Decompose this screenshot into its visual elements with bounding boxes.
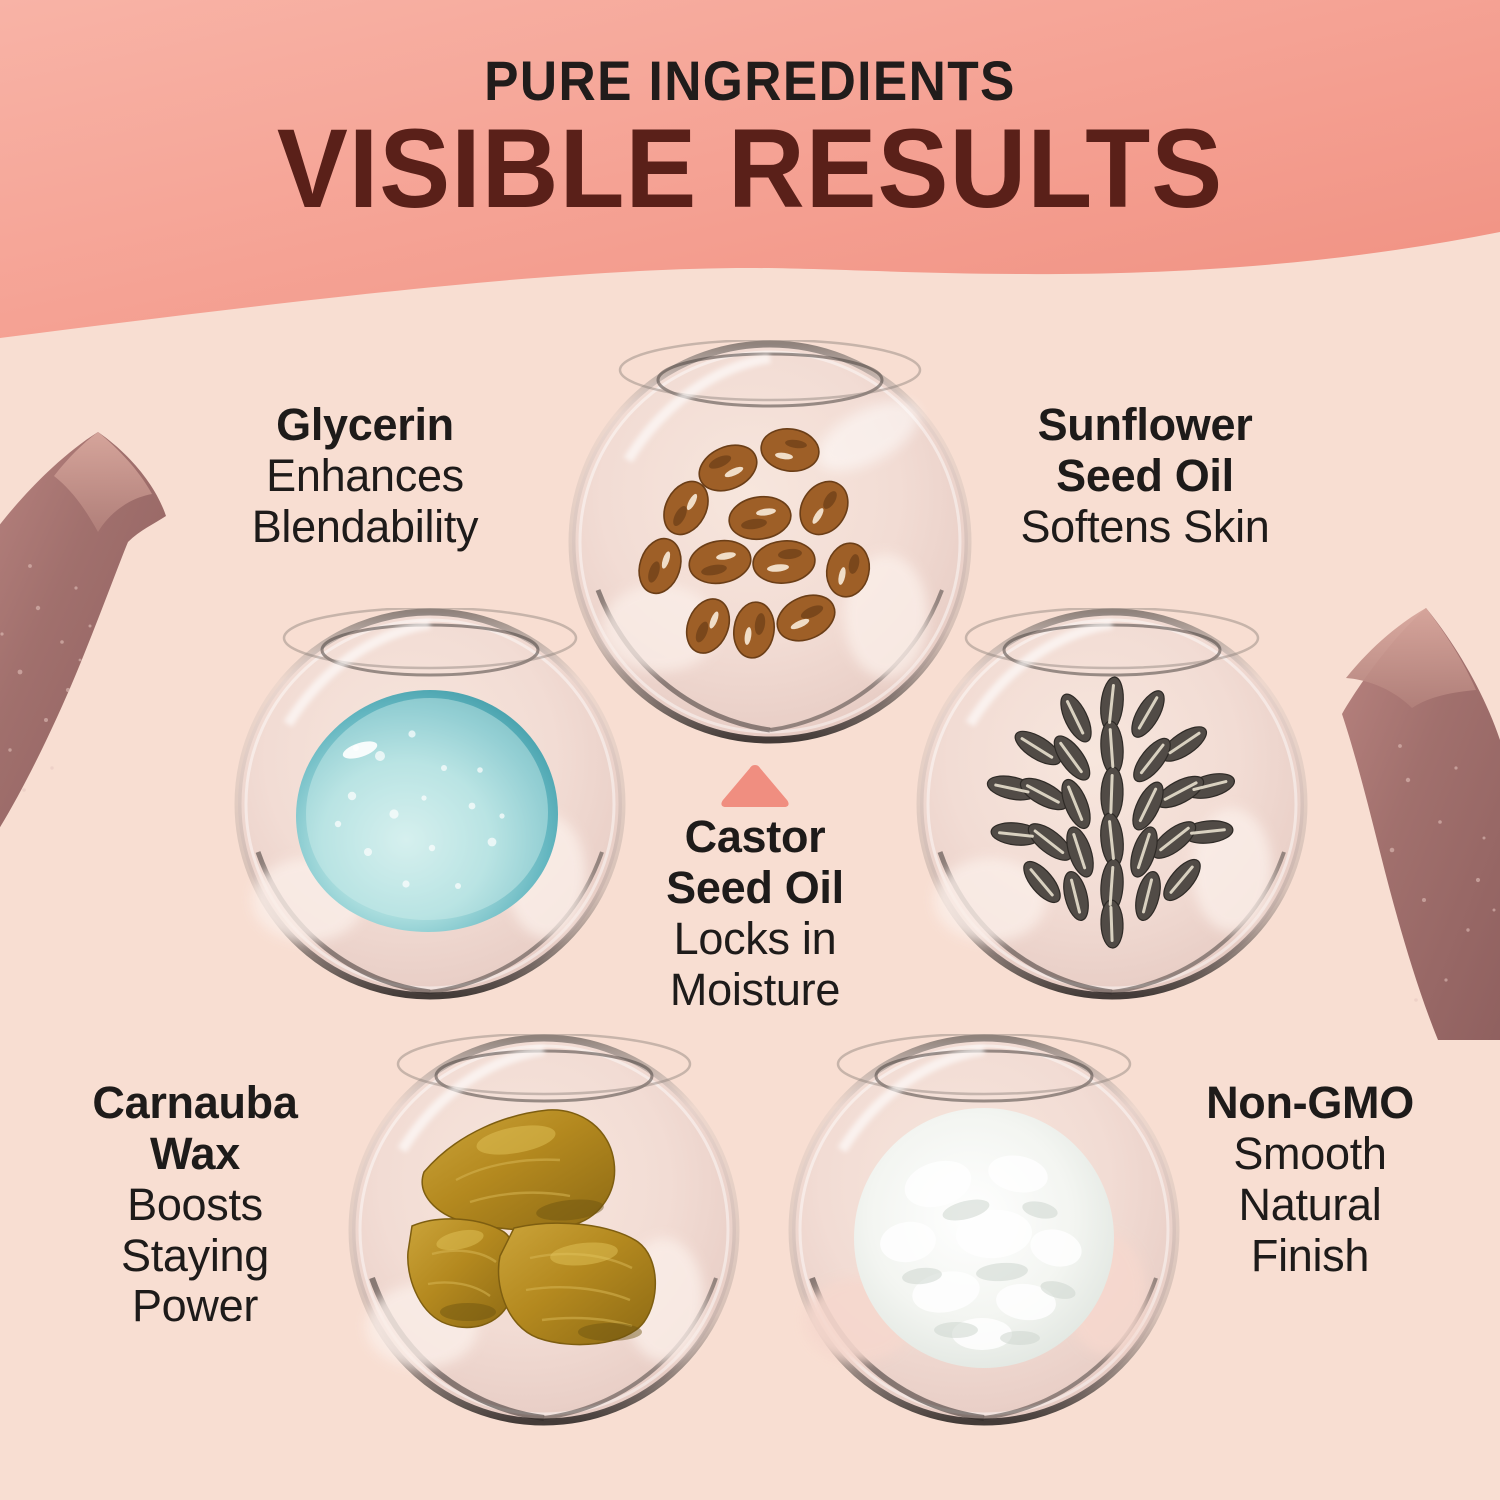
ingredient-sphere-glycerin[interactable]: [234, 608, 626, 1000]
ingredient-desc-carnauba-1: Boosts: [30, 1180, 360, 1231]
ingredient-desc-nongmo-3: Finish: [1140, 1231, 1480, 1282]
ingredient-desc-glycerin-1: Enhances: [110, 451, 620, 502]
lipstick-swatch-right: [1288, 600, 1500, 1040]
ingredient-desc-glycerin-2: Blendability: [110, 502, 620, 553]
headline-line-2: VISIBLE RESULTS: [38, 113, 1463, 225]
ingredient-desc-carnauba-2: Staying: [30, 1231, 360, 1282]
ingredient-label-carnauba: Carnauba Wax Boosts Staying Power: [30, 1078, 360, 1332]
ingredient-name-glycerin: Glycerin: [110, 400, 620, 451]
ingredient-label-castor: Castor Seed Oil Locks in Moisture: [610, 812, 900, 1015]
ingredient-name-carnauba-1: Carnauba: [30, 1078, 360, 1129]
ingredient-sphere-nongmo[interactable]: [788, 1034, 1180, 1426]
ingredient-label-nongmo: Non-GMO Smooth Natural Finish: [1140, 1078, 1480, 1281]
ingredient-label-glycerin: Glycerin Enhances Blendability: [110, 400, 620, 553]
ingredient-label-sunflower: Sunflower Seed Oil Softens Skin: [930, 400, 1360, 553]
ingredient-desc-castor-2: Moisture: [610, 965, 900, 1016]
ingredient-sphere-sunflower[interactable]: [916, 608, 1308, 1000]
headline-block: PURE INGREDIENTS VISIBLE RESULTS: [0, 0, 1500, 225]
ingredient-desc-carnauba-3: Power: [30, 1281, 360, 1332]
ingredient-sphere-castor[interactable]: [568, 340, 972, 744]
ingredient-name-castor-1: Castor: [610, 812, 900, 863]
headline-line-1: PURE INGREDIENTS: [60, 52, 1440, 109]
ingredient-name-nongmo: Non-GMO: [1140, 1078, 1480, 1129]
ingredient-sphere-carnauba[interactable]: [348, 1034, 740, 1426]
ingredient-name-castor-2: Seed Oil: [610, 863, 900, 914]
ingredient-name-carnauba-2: Wax: [30, 1129, 360, 1180]
ingredient-desc-castor-1: Locks in: [610, 914, 900, 965]
ingredient-name-sunflower-2: Seed Oil: [930, 451, 1360, 502]
powder-mound: [854, 1108, 1114, 1368]
infographic-canvas: PURE INGREDIENTS VISIBLE RESULTS: [0, 0, 1500, 1500]
ingredient-desc-sunflower: Softens Skin: [930, 502, 1360, 553]
triangle-up-icon: [718, 762, 792, 808]
ingredient-name-sunflower-1: Sunflower: [930, 400, 1360, 451]
ingredient-desc-nongmo-1: Smooth: [1140, 1129, 1480, 1180]
ingredient-desc-nongmo-2: Natural: [1140, 1180, 1480, 1231]
